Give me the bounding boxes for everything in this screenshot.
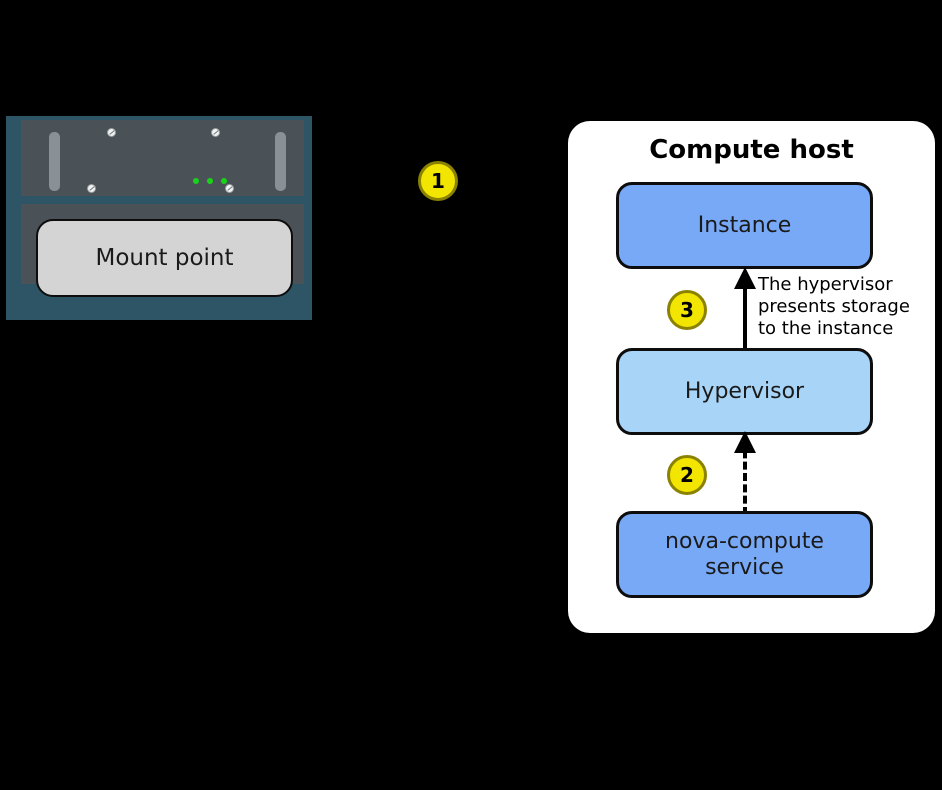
status-led-icon: [207, 178, 213, 184]
screw-icon: [107, 128, 116, 137]
device-front-panel: [21, 120, 304, 196]
screw-icon: [87, 184, 96, 193]
status-led-icon: [221, 178, 227, 184]
status-led-icon: [193, 178, 199, 184]
nova-label-line-1: nova-compute: [665, 529, 824, 554]
mount-point-box: Mount point: [36, 219, 293, 297]
instance-node: Instance: [616, 182, 873, 269]
hypervisor-node: Hypervisor: [616, 348, 873, 435]
panel-title: Compute host: [568, 135, 935, 165]
step-badge-1: 1: [418, 161, 458, 201]
nova-compute-node: nova-compute service: [616, 511, 873, 598]
annotation-line-3: to the instance: [758, 318, 938, 340]
step-badge-2: 2: [667, 455, 707, 495]
arrow-head-icon: [734, 431, 756, 453]
hypervisor-annotation: The hypervisor presents storage to the i…: [758, 274, 938, 340]
nova-label-line-2: service: [705, 555, 784, 580]
annotation-line-2: presents storage: [758, 296, 938, 318]
device-handle-left-icon: [49, 132, 60, 191]
storage-array-device: Mount point: [6, 116, 312, 320]
screw-icon: [225, 184, 234, 193]
device-handle-right-icon: [275, 132, 286, 191]
arrow-head-icon: [734, 267, 756, 289]
annotation-line-1: The hypervisor: [758, 274, 938, 296]
compute-host-panel: Compute host Instance The hypervisor pre…: [568, 121, 935, 633]
step-badge-3: 3: [667, 290, 707, 330]
status-led-group: [193, 178, 227, 184]
screw-icon: [211, 128, 220, 137]
